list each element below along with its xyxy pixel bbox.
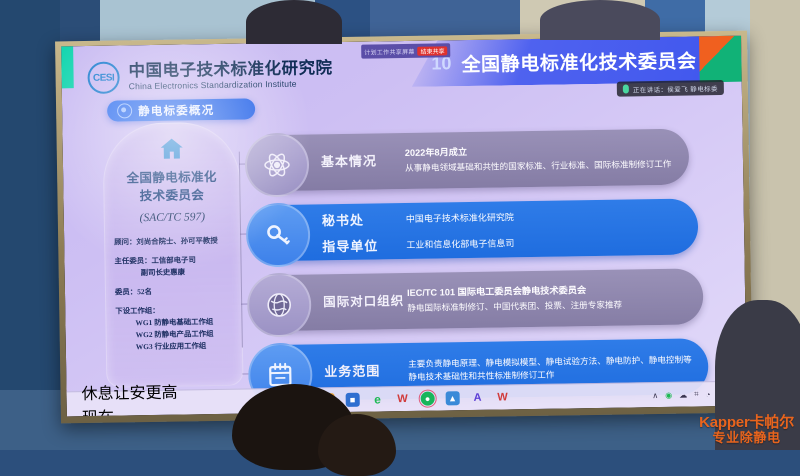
chair-value-2: 副司长史惠康 — [115, 266, 235, 280]
members-value: 52名 — [137, 287, 152, 296]
audience-head — [246, 0, 342, 44]
section-pill-label: 静电标委概况 — [138, 101, 214, 118]
committee-card: 全国静电标准化 技术委员会 (SAC/TC 597) 顾问：刘尚合院士、孙可平教… — [102, 122, 243, 388]
slide-header-bar: 10 全国静电标准化技术委员会 — [411, 36, 742, 87]
chevron-up-icon[interactable]: ∧ — [652, 391, 658, 400]
info-row-content: 秘书处 中国电子技术标准化研究院 指导单位 工业和信息化部电子信息司 — [322, 207, 515, 255]
members-label: 委员： — [115, 287, 137, 296]
info-row-text: 从事静电领域基础和共性的国家标准、行业标准、国际标准制修订工作 — [405, 159, 672, 173]
secretariat-value: 中国电子技术标准化研究院 — [406, 210, 514, 225]
info-row-headline: IEC/TC 101 国际电工委员会静电技术委员会 — [407, 284, 622, 301]
photos-icon[interactable]: ▲ — [445, 391, 459, 405]
watermark-line2: 专业除静电 — [699, 431, 794, 446]
antivirus-icon[interactable]: ◉ — [665, 390, 672, 399]
committee-code: (SAC/TC 597) — [105, 211, 240, 225]
supervisor-label: 指导单位 — [322, 234, 406, 254]
secretariat-pair: 秘书处 中国电子技术标准化研究院 — [322, 207, 514, 229]
cloud-icon[interactable]: ☁ — [679, 390, 687, 399]
info-row-label: 国际对口组织 — [323, 292, 407, 312]
display-inner: 10 全国静电标准化技术委员会 CESI 中国电子技术标准化研究院 China … — [61, 36, 747, 417]
wifi-icon[interactable]: ◔ — [706, 390, 711, 399]
info-row-label: 业务范围 — [324, 361, 408, 382]
info-row-headline: 2022年8月成立 — [405, 143, 672, 161]
cesi-mark-icon: CESI — [87, 61, 119, 93]
screen-share-badge[interactable]: 计划工作共享屏幕 结束共享 — [361, 43, 451, 58]
notification-title: 休息让安更高 — [81, 379, 177, 405]
notification-subtitle: 现在 — [82, 403, 178, 417]
key-icon — [246, 202, 311, 267]
stop-share-button[interactable]: 结束共享 — [418, 46, 448, 55]
logo-name-en: China Electronics Standardization Instit… — [129, 78, 333, 91]
chair-value-1: 工信部电子司 — [151, 255, 195, 265]
info-row-basic: 基本情况 2022年8月成立 从事静电领域基础和共性的国家标准、行业标准、国际标… — [259, 129, 690, 192]
committee-title-line1: 全国静电标准化 — [104, 168, 239, 188]
audience-head — [540, 0, 660, 40]
chair-label: 主任委员： — [114, 256, 151, 266]
screen-share-label: 计划工作共享屏幕 — [364, 46, 415, 56]
supervisor-pair: 指导单位 工业和信息化部电子信息司 — [322, 233, 514, 255]
meeting-icon[interactable]: A — [470, 391, 484, 405]
screenshot-root: 10 全国静电标准化技术委员会 CESI 中国电子技术标准化研究院 China … — [0, 0, 800, 450]
slide-section-title: 全国静电标准化技术委员会 — [461, 46, 697, 77]
secretariat-label: 秘书处 — [322, 208, 406, 228]
workgroups-label: 下设工作组： — [115, 306, 159, 316]
presentation-slide: 10 全国静电标准化技术委员会 CESI 中国电子技术标准化研究院 China … — [61, 36, 747, 417]
info-row-text: 主要负责静电原理、静电模拟模型、静电试验方法、静电防护、静电控制等静电技术基础性… — [408, 354, 692, 382]
wps-writer-icon[interactable]: W — [395, 392, 409, 406]
committee-card-title: 全国静电标准化 技术委员会 — [104, 168, 240, 206]
microphone-icon — [623, 84, 629, 93]
active-speaker-pill: 正在讲话：侯爱飞 静电标委 — [617, 80, 724, 97]
edge-icon[interactable]: e — [370, 392, 384, 406]
wall-panel — [0, 0, 60, 450]
info-row-content: IEC/TC 101 国际电工委员会静电技术委员会 静电国际标准制修订、中国代表… — [407, 283, 632, 315]
home-icon — [159, 137, 183, 159]
atom-icon — [245, 132, 310, 197]
header-corner-accent — [699, 36, 742, 83]
members-line: 委员：52名 — [115, 285, 235, 299]
workgroups-block: 下设工作组： WG1 防静电基础工作组 WG2 防静电产品工作组 WG3 行业应… — [115, 304, 236, 354]
info-row-content: 2022年8月成立 从事静电领域基础和共性的国家标准、行业标准、国际标准制修订工… — [405, 143, 682, 175]
info-row-text: 静电国际标准制修订、中国代表团、投票、注册专家推荐 — [407, 300, 622, 313]
atom-icon — [117, 103, 132, 118]
logo-name-cn: 中国电子技术标准化研究院 — [128, 60, 332, 81]
store-icon[interactable]: ■ — [345, 393, 359, 407]
info-row-label: 基本情况 — [321, 151, 405, 172]
committee-details: 顾问：刘尚合院士、孙可平教授 主任委员：工信部电子司副司长史惠康 委员：52名 … — [114, 235, 236, 361]
advisors-line: 顾问：刘尚合院士、孙可平教授 — [114, 235, 234, 249]
chair-line: 主任委员：工信部电子司副司长史惠康 — [114, 254, 234, 280]
supervisor-value: 工业和信息化部电子信息司 — [406, 236, 514, 251]
wps-office-icon[interactable]: W — [495, 390, 509, 404]
active-speaker-label: 正在讲话：侯爱飞 静电标委 — [633, 83, 718, 94]
info-row-international: 国际对口组织 IEC/TC 101 国际电工委员会静电技术委员会 静电国际标准制… — [261, 268, 704, 331]
watermark-line1: Kapper卡帕尔 — [699, 415, 794, 432]
globe-icon — [247, 272, 312, 337]
committee-title-line2: 技术委员会 — [104, 186, 239, 206]
advisors-value: 刘尚合院士、孙可平教授 — [136, 236, 217, 246]
windows-taskbar[interactable]: 休息让安更高 现在 ▤ ■ e W ● ▲ A W — [67, 381, 747, 417]
cesi-logo: CESI 中国电子技术标准化研究院 China Electronics Stan… — [87, 58, 332, 94]
network-icon[interactable]: ⌗ — [694, 389, 699, 399]
wechat-icon[interactable]: ● — [420, 392, 434, 406]
taskbar-notification[interactable]: 休息让安更高 现在 — [66, 379, 178, 417]
advisors-label: 顾问： — [114, 237, 136, 246]
watermark: Kapper卡帕尔 专业除静电 — [699, 415, 794, 446]
info-row-content: 主要负责静电原理、静电模拟模型、静电试验方法、静电防护、静电控制等静电技术基础性… — [408, 353, 708, 384]
workgroup-item: WG3 行业应用工作组 — [116, 340, 236, 354]
info-row-secretariat: 秘书处 中国电子技术标准化研究院 指导单位 工业和信息化部电子信息司 — [260, 198, 699, 261]
display-bezel: 10 全国静电标准化技术委员会 CESI 中国电子技术标准化研究院 China … — [55, 31, 753, 424]
section-title-pill: 静电标委概况 — [107, 98, 255, 121]
